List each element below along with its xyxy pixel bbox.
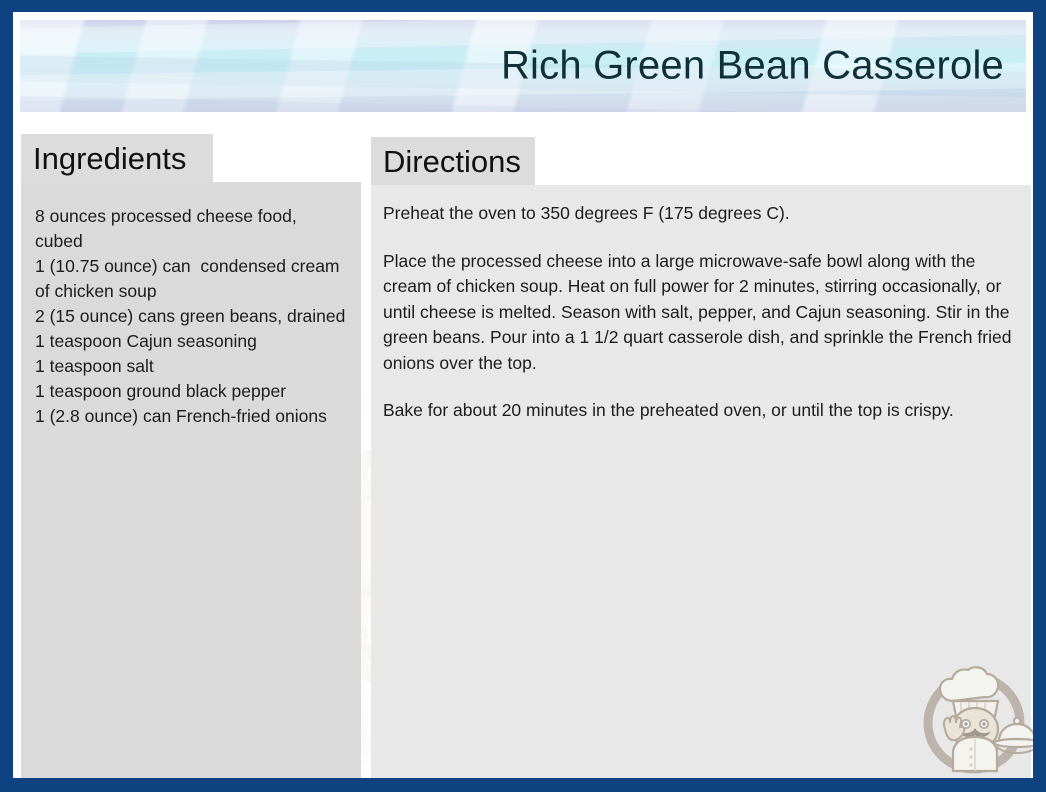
- direction-step: Place the processed cheese into a large …: [383, 249, 1015, 377]
- cloche-icon: [994, 718, 1033, 753]
- directions-heading-box: Directions: [371, 137, 535, 185]
- chef-hand-icon: [944, 716, 964, 740]
- recipe-card: Rich Green Bean Casserole Ingredients 8 …: [0, 0, 1046, 792]
- ingredient-item: 2 (15 ounce) cans green beans, drained: [35, 304, 347, 329]
- direction-step: Bake for about 20 minutes in the preheat…: [383, 398, 1015, 424]
- chef-logo: [911, 657, 1033, 778]
- direction-step: Preheat the oven to 350 degrees F (175 d…: [383, 201, 1015, 227]
- ingredient-item: 1 (10.75 ounce) can condensed cream of c…: [35, 254, 347, 304]
- chef-body-icon: [953, 737, 997, 771]
- recipe-page: Rich Green Bean Casserole Ingredients 8 …: [13, 12, 1033, 778]
- ingredients-heading-box: Ingredients: [21, 134, 213, 182]
- ingredients-list: 8 ounces processed cheese food, cubed1 (…: [35, 204, 347, 429]
- title-banner: Rich Green Bean Casserole: [20, 20, 1026, 112]
- ingredient-item: 8 ounces processed cheese food, cubed: [35, 204, 347, 254]
- ingredient-item: 1 teaspoon Cajun seasoning: [35, 329, 347, 354]
- directions-heading: Directions: [383, 146, 521, 177]
- ingredient-item: 1 teaspoon ground black pepper: [35, 379, 347, 404]
- recipe-title: Rich Green Bean Casserole: [501, 44, 1004, 89]
- ingredients-panel: 8 ounces processed cheese food, cubed1 (…: [21, 182, 361, 778]
- ingredients-heading: Ingredients: [33, 143, 186, 174]
- ingredient-item: 1 (2.8 ounce) can French-fried onions: [35, 404, 347, 429]
- ingredient-item: 1 teaspoon salt: [35, 354, 347, 379]
